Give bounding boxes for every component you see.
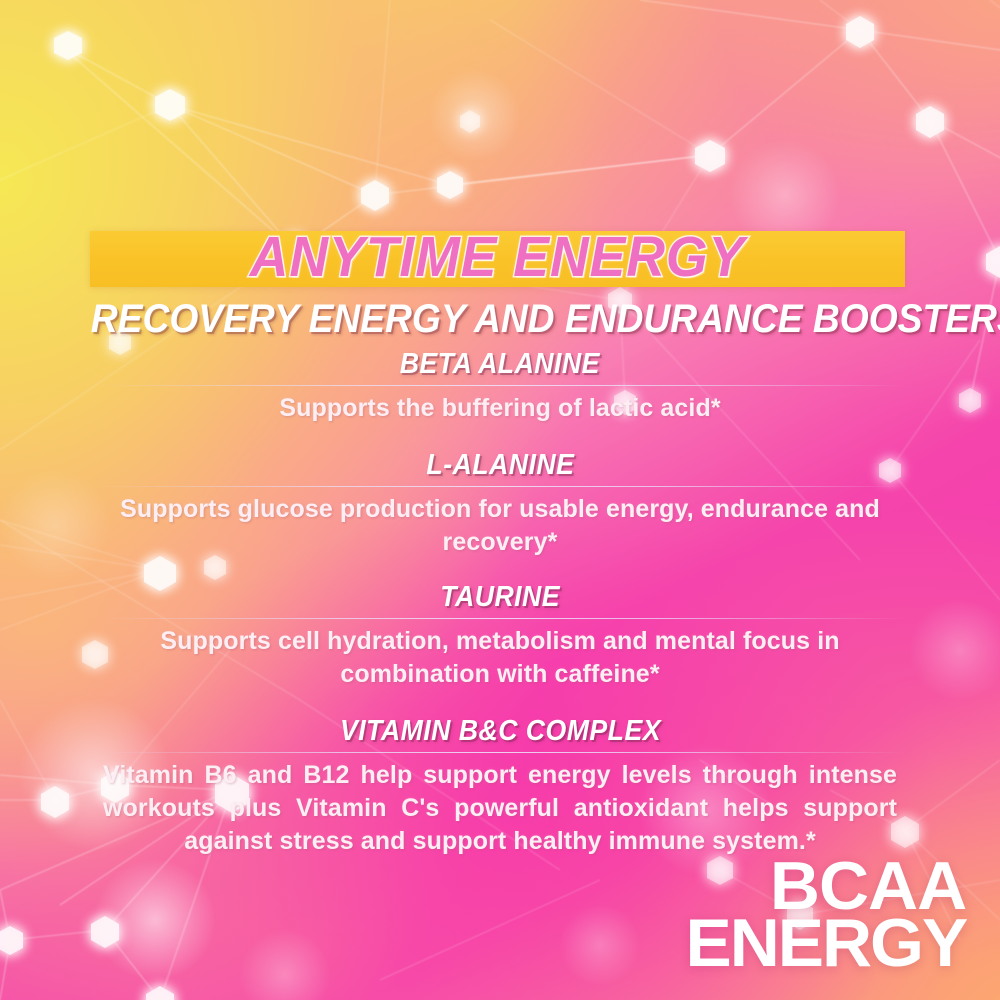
product-info-poster: ANYTIME ENERGY RECOVERY ENERGY AND ENDUR…	[0, 0, 1000, 1000]
ingredient-name: BETA ALANINE	[95, 346, 905, 384]
ingredient-name: L-ALANINE	[95, 447, 905, 485]
banner-title: ANYTIME ENERGY	[114, 218, 880, 296]
poster-content: ANYTIME ENERGY RECOVERY ENERGY AND ENDUR…	[0, 0, 1000, 1000]
ingredient-list: BETA ALANINE Supports the buffering of l…	[95, 346, 905, 862]
ingredient-name: TAURINE	[95, 579, 905, 617]
ingredient-item: L-ALANINE Supports glucose production fo…	[95, 447, 905, 559]
ingredient-divider	[95, 486, 905, 487]
ingredient-item: VITAMIN B&C COMPLEX Vitamin B6 and B12 h…	[95, 713, 905, 858]
ingredient-item: BETA ALANINE Supports the buffering of l…	[95, 346, 905, 425]
brand-logo-line-2: ENERGY	[685, 915, 966, 972]
ingredient-item: TAURINE Supports cell hydration, metabol…	[95, 579, 905, 691]
ingredient-name: VITAMIN B&C COMPLEX	[95, 713, 905, 751]
ingredient-divider	[95, 618, 905, 619]
poster-subtitle: RECOVERY ENERGY AND ENDURANCE BOOSTERS*:	[91, 296, 909, 342]
ingredient-description: Supports the buffering of lactic acid*	[95, 392, 905, 425]
ingredient-description: Supports glucose production for usable e…	[95, 493, 905, 559]
ingredient-divider	[95, 385, 905, 386]
ingredient-description: Vitamin B6 and B12 help support energy l…	[95, 759, 905, 858]
ingredient-divider	[95, 752, 905, 753]
ingredient-description: Supports cell hydration, metabolism and …	[95, 625, 905, 691]
brand-logo: BCAA ENERGY	[691, 858, 966, 972]
